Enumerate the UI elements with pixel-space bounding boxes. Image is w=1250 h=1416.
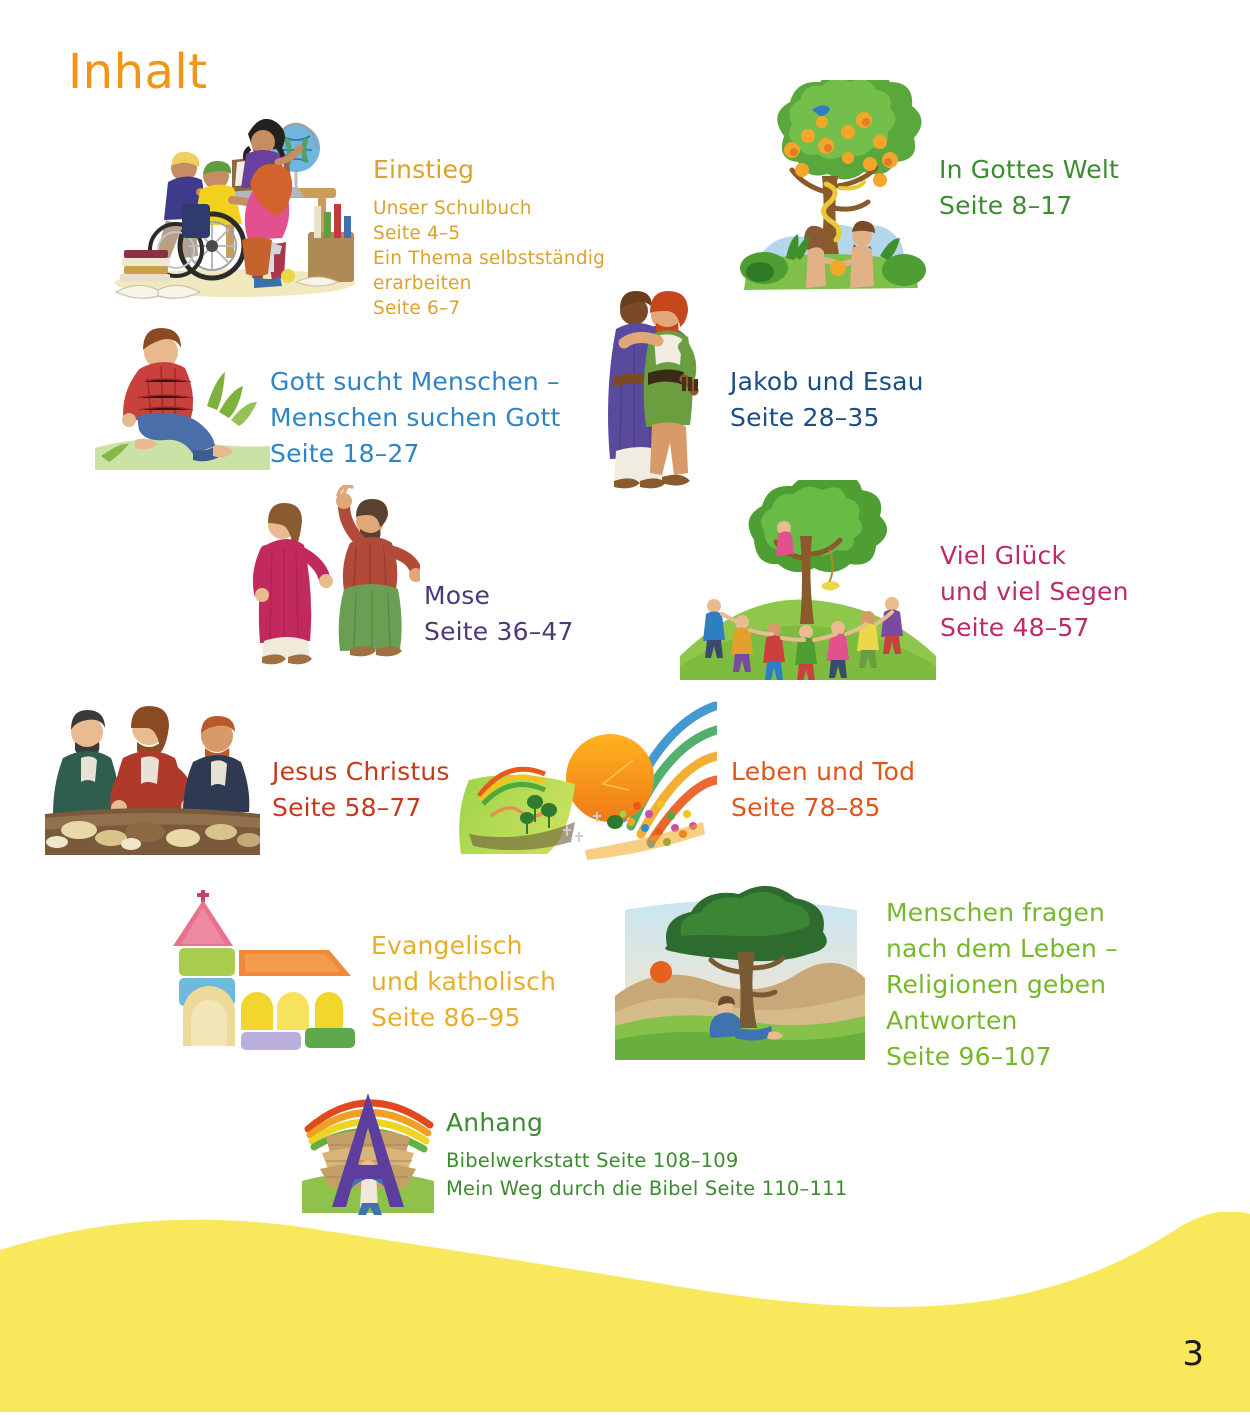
entry-pages: Seite 48–57	[940, 610, 1210, 646]
entry-title: Anhang	[446, 1105, 866, 1141]
entry-title: Einstieg	[373, 152, 703, 188]
jakob-esau-embrace-illustration	[600, 285, 710, 500]
entry-title: Evangelisch und katholisch	[371, 928, 611, 1000]
contents-page: Inhalt	[0, 0, 1250, 1412]
letter-a-noahs-ark-rainbow-illustration	[298, 1075, 438, 1215]
entry-title: Gott sucht Menschen – Menschen suchen Go…	[270, 364, 590, 436]
entry-title: Mose	[424, 578, 654, 614]
entry-in-gottes-welt[interactable]: In Gottes Welt Seite 8–17	[939, 152, 1199, 224]
entry-title: Menschen fragen nach dem Leben – Religio…	[886, 895, 1146, 1039]
entry-mose[interactable]: Mose Seite 36–47	[424, 578, 654, 650]
children-desk-globe-illustration	[100, 100, 362, 300]
entry-evangelisch-katholisch[interactable]: Evangelisch und katholisch Seite 86–95	[371, 928, 611, 1036]
entry-title: Jakob und Esau	[730, 364, 990, 400]
entry-title: Leben und Tod	[731, 754, 981, 790]
entry-pages: Seite 18–27	[270, 436, 590, 472]
entry-leben-und-tod[interactable]: Leben und Tod Seite 78–85	[731, 754, 981, 826]
entry-pages: Seite 8–17	[939, 188, 1199, 224]
bottom-wave-decoration	[0, 1212, 1250, 1412]
entry-pages: Seite 86–95	[371, 1000, 611, 1036]
entry-title: In Gottes Welt	[939, 152, 1199, 188]
entry-menschen-fragen[interactable]: Menschen fragen nach dem Leben – Religio…	[886, 895, 1146, 1075]
entry-anhang[interactable]: Anhang Bibelwerkstatt Seite 108–109 Mein…	[446, 1105, 866, 1203]
page-number: 3	[1182, 1334, 1204, 1374]
entry-title: Viel Glück und viel Segen	[940, 538, 1210, 610]
entry-jakob-und-esau[interactable]: Jakob und Esau Seite 28–35	[730, 364, 990, 436]
colorful-church-blocks-illustration	[165, 890, 357, 1050]
tree-of-knowledge-adam-eve-illustration	[730, 80, 930, 295]
entry-pages: Seite 78–85	[731, 790, 981, 826]
entry-pages: Seite 36–47	[424, 614, 654, 650]
sun-landscape-abstract-illustration	[455, 700, 717, 870]
mose-and-woman-illustration	[230, 485, 420, 675]
entry-pages: Seite 28–35	[730, 400, 990, 436]
boy-sitting-grass-illustration	[95, 310, 270, 470]
entry-subitems: Bibelwerkstatt Seite 108–109 Mein Weg du…	[446, 1147, 866, 1203]
tree-person-resting-illustration	[615, 880, 865, 1060]
entry-gott-sucht-menschen[interactable]: Gott sucht Menschen – Menschen suchen Go…	[270, 364, 590, 472]
last-supper-illustration	[45, 700, 260, 855]
entry-viel-glueck[interactable]: Viel Glück und viel Segen Seite 48–57	[940, 538, 1210, 646]
children-dancing-tree-illustration	[680, 480, 936, 680]
page-title: Inhalt	[68, 44, 208, 100]
entry-pages: Seite 96–107	[886, 1039, 1146, 1075]
